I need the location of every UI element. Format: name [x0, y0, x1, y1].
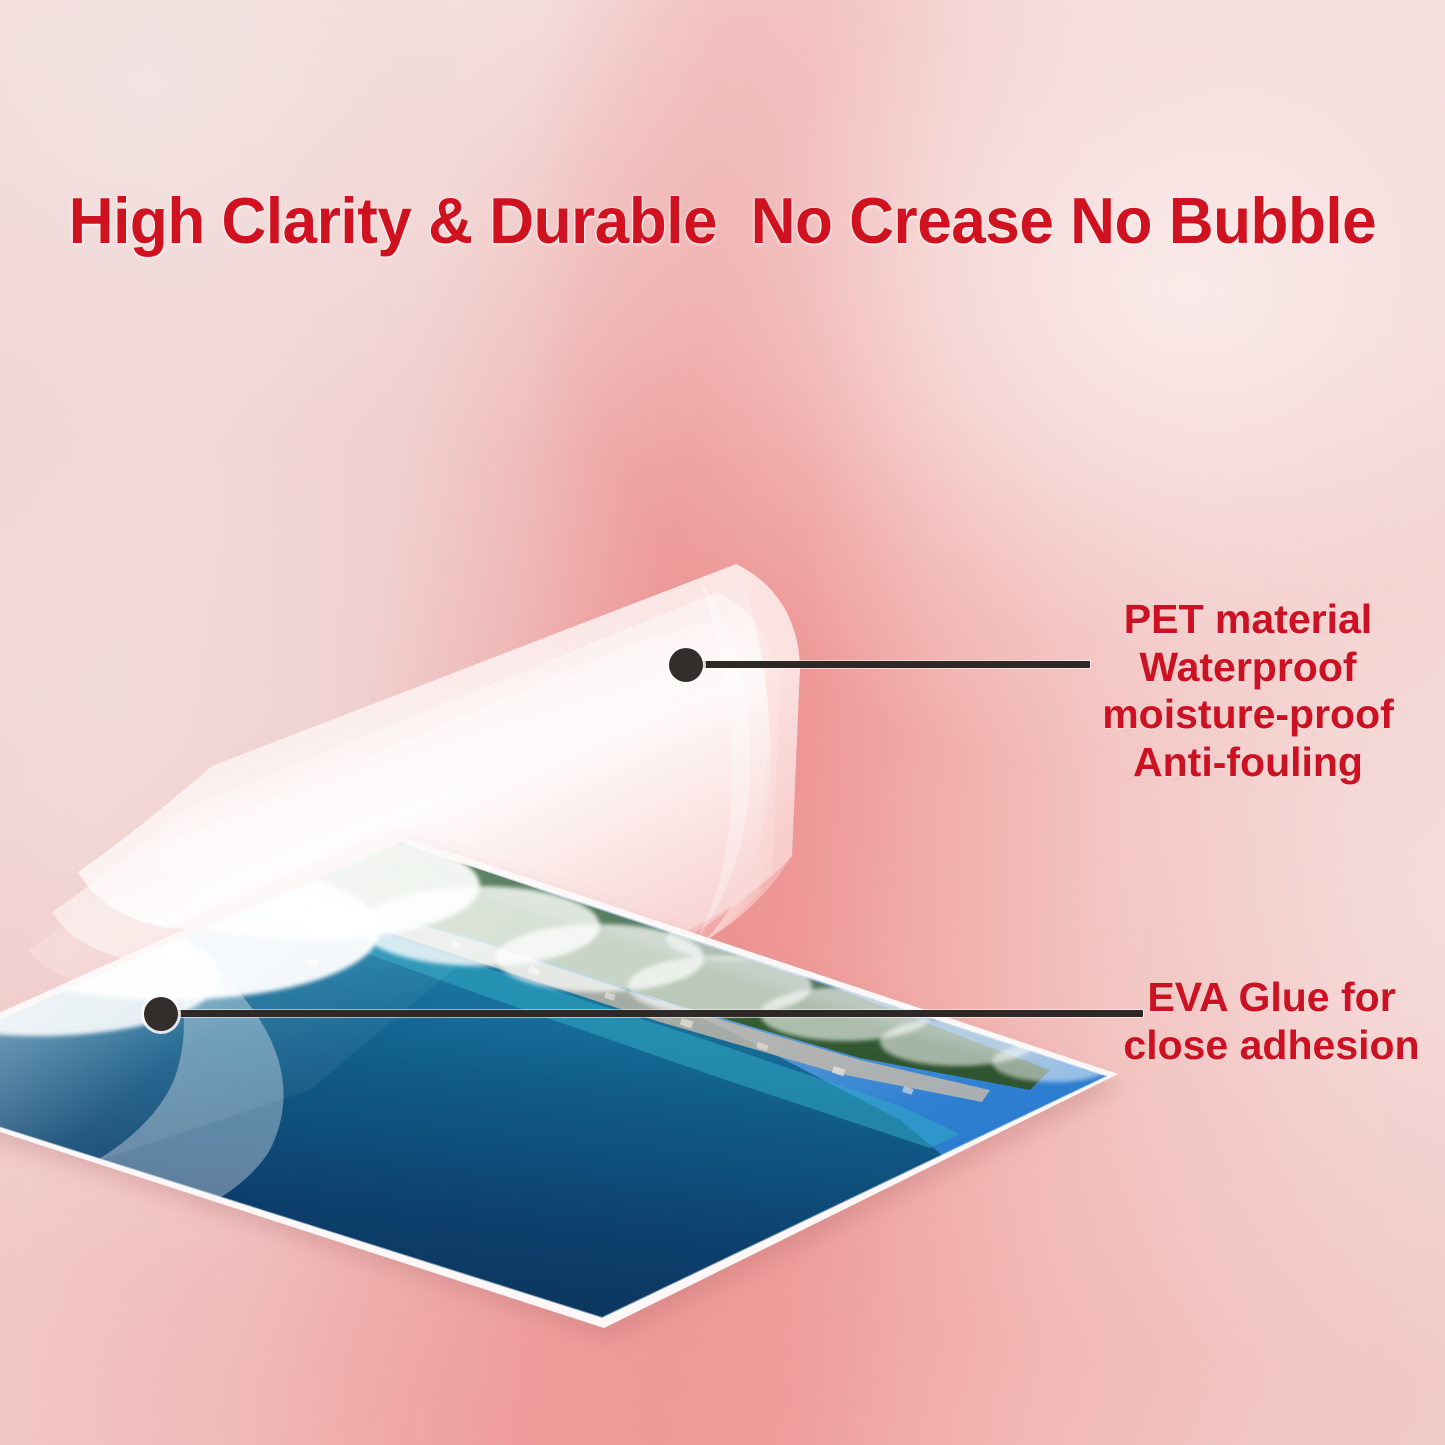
pet-leader-line — [700, 661, 1090, 668]
product-infographic: High Clarity & Durable No Crease No Bubb… — [0, 0, 1445, 1445]
eva-leader-line — [175, 1010, 1143, 1017]
eva-leader-dot — [144, 997, 178, 1031]
callout-eva-glue: EVA Glue for close adhesion — [1098, 974, 1445, 1069]
callout-pet-material: PET material Waterproof moisture-proof A… — [1052, 596, 1444, 786]
page-title: High Clarity & Durable No Crease No Bubb… — [33, 183, 1413, 258]
pet-leader-dot — [669, 648, 703, 682]
